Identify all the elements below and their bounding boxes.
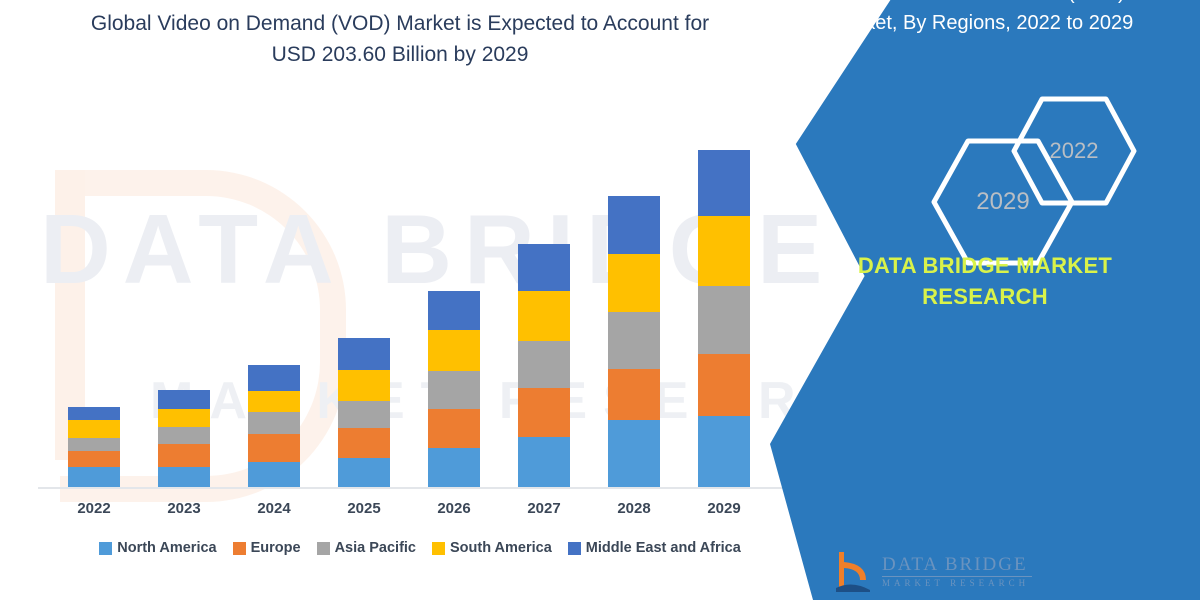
bar-segment[interactable] (518, 244, 570, 291)
footer-logo: DATA BRIDGE MARKET RESEARCH (836, 548, 1066, 598)
bar-segment[interactable] (158, 390, 210, 409)
x-axis-label-2022: 2022 (49, 500, 139, 517)
bar-segment[interactable] (608, 369, 660, 420)
bar-segment[interactable] (158, 467, 210, 487)
bar-segment[interactable] (608, 254, 660, 312)
legend-swatch-icon (317, 542, 330, 555)
bar-segment[interactable] (698, 416, 750, 487)
bar-segment[interactable] (338, 338, 390, 369)
legend-swatch-icon (568, 542, 581, 555)
legend-label: South America (450, 540, 552, 556)
legend-item-asia-pacific[interactable]: Asia Pacific (317, 540, 416, 556)
bar-segment[interactable] (248, 365, 300, 391)
x-axis-label-2029: 2029 (679, 500, 769, 517)
bar-2023[interactable] (158, 390, 210, 487)
legend-label: Middle East and Africa (586, 540, 741, 556)
bar-segment[interactable] (698, 216, 750, 286)
chart-legend: North AmericaEuropeAsia PacificSouth Ame… (40, 540, 800, 556)
bar-segment[interactable] (518, 341, 570, 388)
bar-segment[interactable] (428, 409, 480, 448)
bar-segment[interactable] (608, 196, 660, 254)
bar-segment[interactable] (698, 150, 750, 217)
bar-segment[interactable] (518, 437, 570, 487)
bar-segment[interactable] (68, 420, 120, 437)
bar-segment[interactable] (158, 427, 210, 444)
bar-segment[interactable] (338, 401, 390, 428)
legend-item-europe[interactable]: Europe (233, 540, 301, 556)
legend-swatch-icon (233, 542, 246, 555)
bar-2025[interactable] (338, 338, 390, 487)
bar-segment[interactable] (248, 391, 300, 412)
bar-2022[interactable] (68, 407, 120, 487)
bar-segment[interactable] (248, 434, 300, 462)
legend-label: North America (117, 540, 216, 556)
bar-segment[interactable] (698, 286, 750, 354)
bar-segment[interactable] (338, 370, 390, 401)
bar-segment[interactable] (428, 330, 480, 371)
bar-2028[interactable] (608, 196, 660, 487)
footer-logo-subtitle: MARKET RESEARCH (882, 578, 1029, 588)
x-axis-label-2026: 2026 (409, 500, 499, 517)
footer-logo-title: DATA BRIDGE (882, 554, 1028, 576)
brand-line-2: RESEARCH (785, 281, 1185, 312)
x-axis-label-2025: 2025 (319, 500, 409, 517)
bar-segment[interactable] (518, 291, 570, 341)
stacked-bar-chart: 20222023202420252026202720282029 North A… (0, 0, 820, 600)
legend-item-north-america[interactable]: North America (99, 540, 216, 556)
legend-item-south-america[interactable]: South America (432, 540, 552, 556)
legend-swatch-icon (432, 542, 445, 555)
bar-2029[interactable] (698, 150, 750, 488)
legend-swatch-icon (99, 542, 112, 555)
brand-line-1: DATA BRIDGE MARKET (785, 250, 1185, 281)
x-axis-label-2027: 2027 (499, 500, 589, 517)
brand-name: DATA BRIDGE MARKET RESEARCH (785, 250, 1185, 312)
bar-segment[interactable] (338, 428, 390, 458)
bar-segment[interactable] (68, 467, 120, 487)
bridge-logo-icon (836, 550, 870, 592)
x-axis-label-2024: 2024 (229, 500, 319, 517)
bar-segment[interactable] (428, 291, 480, 330)
bar-2024[interactable] (248, 365, 300, 487)
infographic-canvas: DATA BRIDGE MARKET RESEARCH Global Video… (0, 0, 1200, 600)
bar-segment[interactable] (158, 444, 210, 466)
x-axis-label-2023: 2023 (139, 500, 229, 517)
legend-label: Europe (251, 540, 301, 556)
bar-2026[interactable] (428, 291, 480, 487)
bar-segment[interactable] (158, 409, 210, 426)
bar-segment[interactable] (68, 438, 120, 452)
bar-2027[interactable] (518, 244, 570, 487)
legend-label: Asia Pacific (335, 540, 416, 556)
bar-segment[interactable] (698, 354, 750, 416)
hexagon-2022-label: 2022 (1050, 138, 1099, 164)
bar-segment[interactable] (428, 448, 480, 487)
bar-segment[interactable] (608, 312, 660, 368)
x-axis-line (38, 487, 798, 489)
bar-segment[interactable] (428, 371, 480, 410)
bar-segment[interactable] (338, 458, 390, 487)
bar-segment[interactable] (518, 388, 570, 437)
bar-segment[interactable] (608, 420, 660, 487)
bar-segment[interactable] (68, 407, 120, 421)
bar-segment[interactable] (68, 451, 120, 466)
bar-segment[interactable] (248, 412, 300, 433)
x-axis-label-2028: 2028 (589, 500, 679, 517)
bar-segment[interactable] (248, 462, 300, 487)
hexagon-2029-label: 2029 (976, 188, 1029, 216)
legend-item-middle-east-and-africa[interactable]: Middle East and Africa (568, 540, 741, 556)
footer-logo-rule (882, 576, 1032, 577)
